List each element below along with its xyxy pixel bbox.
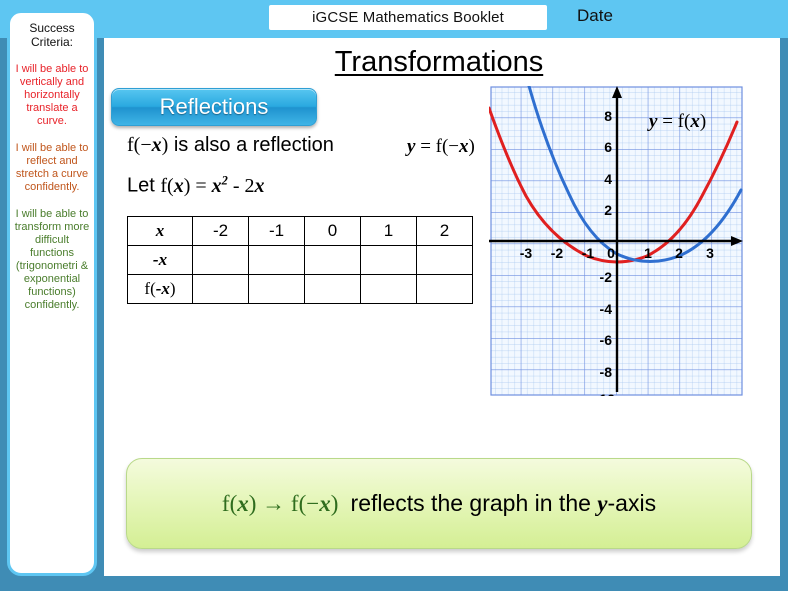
svg-text:3: 3 — [706, 245, 714, 261]
page-title: Transformations — [279, 46, 599, 79]
svg-text:-2: -2 — [600, 269, 613, 285]
slide-root: iGCSE Mathematics Booklet Date Success C… — [0, 0, 788, 591]
svg-text:2: 2 — [604, 202, 612, 218]
success-criteria-item-3: I will be able to transform more difficu… — [14, 208, 90, 312]
success-criteria-heading: Success Criteria: — [14, 21, 90, 49]
table-cell[interactable] — [193, 275, 249, 304]
function-definition-expr: f(x) = x2 - 2x — [160, 175, 264, 197]
table-cell[interactable] — [417, 275, 473, 304]
table-cell[interactable]: 1 — [361, 217, 417, 246]
table-cell[interactable]: -2 — [193, 217, 249, 246]
conclusion-expression: f(x) → f(−x) — [222, 491, 344, 516]
table-cell[interactable] — [417, 246, 473, 275]
curve-label-f-neg-x: y = f(−x) — [407, 136, 475, 158]
reflection-statement: f(−x) is also a reflection — [127, 134, 334, 157]
table-row-header-x: x — [128, 217, 193, 246]
table-cell[interactable] — [361, 275, 417, 304]
function-definition-let: Let — [127, 175, 155, 197]
svg-text:-10: -10 — [595, 391, 615, 396]
table-row-header-negx: -x — [128, 246, 193, 275]
slide-canvas: Transformations Reflections f(−x) is als… — [104, 38, 780, 576]
conclusion-text: f(x) → f(−x) reflects the graph in the y… — [222, 490, 656, 517]
success-criteria-item-1: I will be able to vertically and horizon… — [14, 63, 90, 128]
reflections-button[interactable]: Reflections — [111, 88, 317, 126]
svg-text:4: 4 — [604, 171, 612, 187]
table-cell[interactable] — [361, 246, 417, 275]
table-row: x -2 -1 0 1 2 — [128, 217, 473, 246]
table-cell[interactable]: 0 — [305, 217, 361, 246]
table-cell[interactable] — [249, 246, 305, 275]
table-cell[interactable]: -1 — [249, 217, 305, 246]
table-cell[interactable] — [305, 275, 361, 304]
svg-text:6: 6 — [604, 139, 612, 155]
table-cell[interactable]: 2 — [417, 217, 473, 246]
reflection-statement-expr: f(−x) — [127, 134, 168, 156]
table-cell[interactable] — [193, 246, 249, 275]
success-criteria-item-2: I will be able to reflect and stretch a … — [14, 142, 90, 194]
booklet-title-chip: iGCSE Mathematics Booklet — [269, 5, 547, 30]
value-table: x -2 -1 0 1 2 -x f(-x) — [127, 216, 473, 304]
svg-text:-2: -2 — [551, 245, 564, 261]
table-row-header-fnegx: f(-x) — [128, 275, 193, 304]
svg-text:-3: -3 — [520, 245, 533, 261]
table-cell[interactable] — [305, 246, 361, 275]
table-cell[interactable] — [249, 275, 305, 304]
success-criteria-sidebar: Success Criteria: I will be able to vert… — [7, 10, 97, 576]
function-definition: Let f(x) = x2 - 2x — [127, 173, 265, 198]
curve-label-f-x: y = f(x) — [649, 111, 706, 133]
reflections-button-label: Reflections — [160, 94, 269, 120]
table-row: f(-x) — [128, 275, 473, 304]
svg-text:-4: -4 — [600, 301, 613, 317]
svg-text:0: 0 — [607, 245, 615, 261]
conclusion-sentence: reflects the graph in the y-axis — [351, 490, 657, 516]
svg-text:-6: -6 — [600, 332, 613, 348]
svg-text:8: 8 — [604, 108, 612, 124]
reflection-statement-text: is also a reflection — [174, 134, 334, 156]
svg-text:2: 2 — [675, 245, 683, 261]
svg-text:-1: -1 — [582, 245, 595, 261]
date-label: Date — [577, 6, 613, 26]
svg-text:1: 1 — [644, 245, 652, 261]
svg-text:-8: -8 — [600, 364, 613, 380]
booklet-title-text: iGCSE Mathematics Booklet — [312, 9, 504, 26]
conclusion-box: f(x) → f(−x) reflects the graph in the y… — [126, 458, 752, 549]
table-row: -x — [128, 246, 473, 275]
